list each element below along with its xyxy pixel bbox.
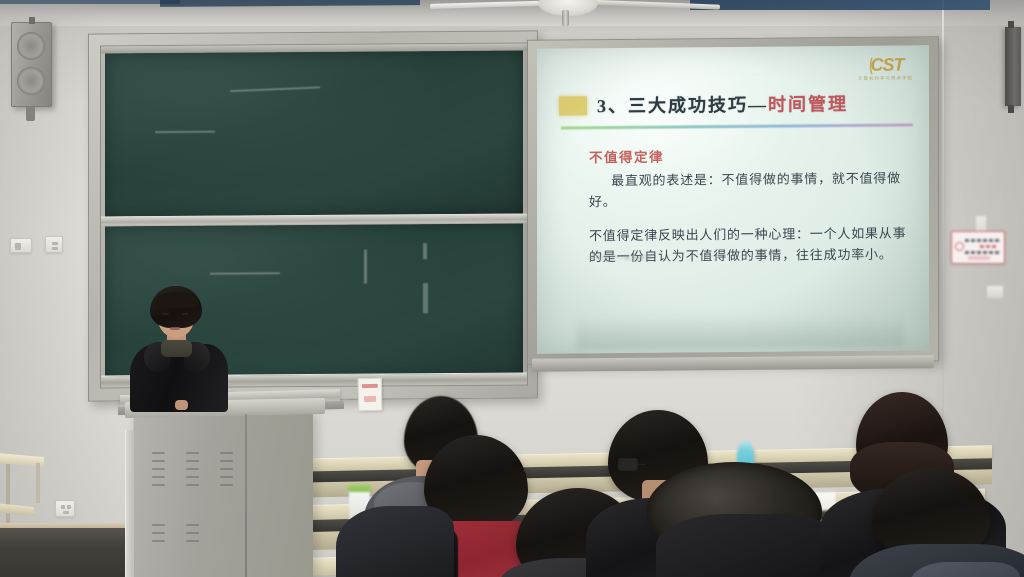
wall-junction-box <box>986 285 1004 299</box>
slide-title-main: 三大成功技巧— <box>628 95 768 116</box>
blackboard-panel-upper <box>105 51 523 217</box>
slide-title-bullet-icon <box>559 96 587 115</box>
outlet-slot <box>67 505 71 509</box>
slide-title: 3、三大成功技巧—时间管理 <box>597 90 848 118</box>
instructor-mouth <box>170 327 180 330</box>
outlet-slot <box>63 511 69 514</box>
screen-bottom-shading <box>576 312 905 349</box>
cst-logo-subtitle: 计算机科学与技术学院 <box>858 76 913 81</box>
instructor <box>128 286 233 411</box>
speaker-mount-top <box>29 17 35 24</box>
wall-outlet-plate <box>45 236 63 253</box>
ceiling-shadow-left <box>0 0 180 4</box>
instructor-hand <box>175 400 188 410</box>
cst-logo-mark: (CST <box>858 55 913 74</box>
speaker-icon <box>11 22 52 107</box>
projection-screen-surface: (CST 计算机科学与技术学院 3、三大成功技巧—时间管理 不值得定律 最直观的… <box>537 45 929 353</box>
glasses-icon <box>618 458 638 471</box>
projection-screen: (CST 计算机科学与技术学院 3、三大成功技巧—时间管理 不值得定律 最直观的… <box>527 36 939 365</box>
baseboard <box>0 528 133 577</box>
outlet-slot <box>52 242 58 245</box>
card-text-line <box>364 396 376 402</box>
slide-title-number: 3、 <box>597 96 628 116</box>
chalk-smudge <box>210 272 280 274</box>
speaker-mount-top <box>1008 21 1014 28</box>
wall-switch-plate <box>10 238 32 253</box>
card-text-line <box>362 384 378 388</box>
speaker-grill <box>17 67 45 95</box>
chalk-smudge <box>423 243 427 259</box>
warning-symbol-icon <box>955 242 964 251</box>
wall-outlet-plate <box>55 500 75 517</box>
slide-title-row: 3、三大成功技巧—时间管理 <box>559 85 911 122</box>
cst-logo: (CST 计算机科学与技术学院 <box>858 55 913 81</box>
instructor-podium <box>133 414 313 577</box>
fan-blade <box>580 0 720 10</box>
slide-title-highlight: 时间管理 <box>768 94 848 115</box>
podium-panel-seam <box>245 414 247 577</box>
slide-title-underline <box>561 123 913 129</box>
instructor-scarf <box>161 340 192 357</box>
ceiling-beam-right <box>690 0 990 10</box>
outlet-slot <box>61 505 65 509</box>
glasses-bridge-icon <box>638 464 646 465</box>
switch-toggle <box>15 243 21 250</box>
chalk-smudge <box>423 283 428 313</box>
cup-lid <box>348 484 371 492</box>
student-5 <box>646 462 836 577</box>
speaker-grill <box>17 32 45 60</box>
speaker-bracket <box>26 107 35 121</box>
safety-warning-sign <box>951 231 1005 264</box>
slide-footnote: 职场生存—南京邮电 <box>589 253 652 263</box>
student-8 <box>336 500 426 577</box>
side-desk-leg <box>6 464 10 524</box>
logo-arc-icon: ( <box>869 56 873 74</box>
slide-paragraph-1: 最直观的表述是：不值得做的事情，就不值得做好。 <box>589 167 907 212</box>
fan-rod <box>562 10 569 26</box>
classroom-photo: (CST 计算机科学与技术学院 3、三大成功技巧—时间管理 不值得定律 最直观的… <box>0 0 1024 577</box>
sign-text-line <box>980 245 998 248</box>
chalk-smudge <box>364 249 367 283</box>
cst-logo-text: CST <box>871 55 904 75</box>
speaker-mount-bottom <box>1008 105 1014 113</box>
side-desk-leg <box>36 463 40 503</box>
chalk-smudge <box>230 86 320 92</box>
sign-footer-bar <box>968 256 990 260</box>
outlet-slot <box>52 247 58 250</box>
ceiling-fan-icon <box>430 0 710 28</box>
bottle-cap <box>739 442 752 450</box>
student-7 <box>866 468 1024 577</box>
student-coat <box>656 514 836 577</box>
speaker-icon <box>1005 27 1021 106</box>
student-shoulder <box>336 506 454 577</box>
sign-text-line <box>965 251 1000 254</box>
sign-text-line <box>965 239 1000 242</box>
slide-section-heading: 不值得定律 <box>589 143 907 166</box>
notice-card <box>358 378 383 411</box>
chalk-smudge <box>155 131 215 133</box>
